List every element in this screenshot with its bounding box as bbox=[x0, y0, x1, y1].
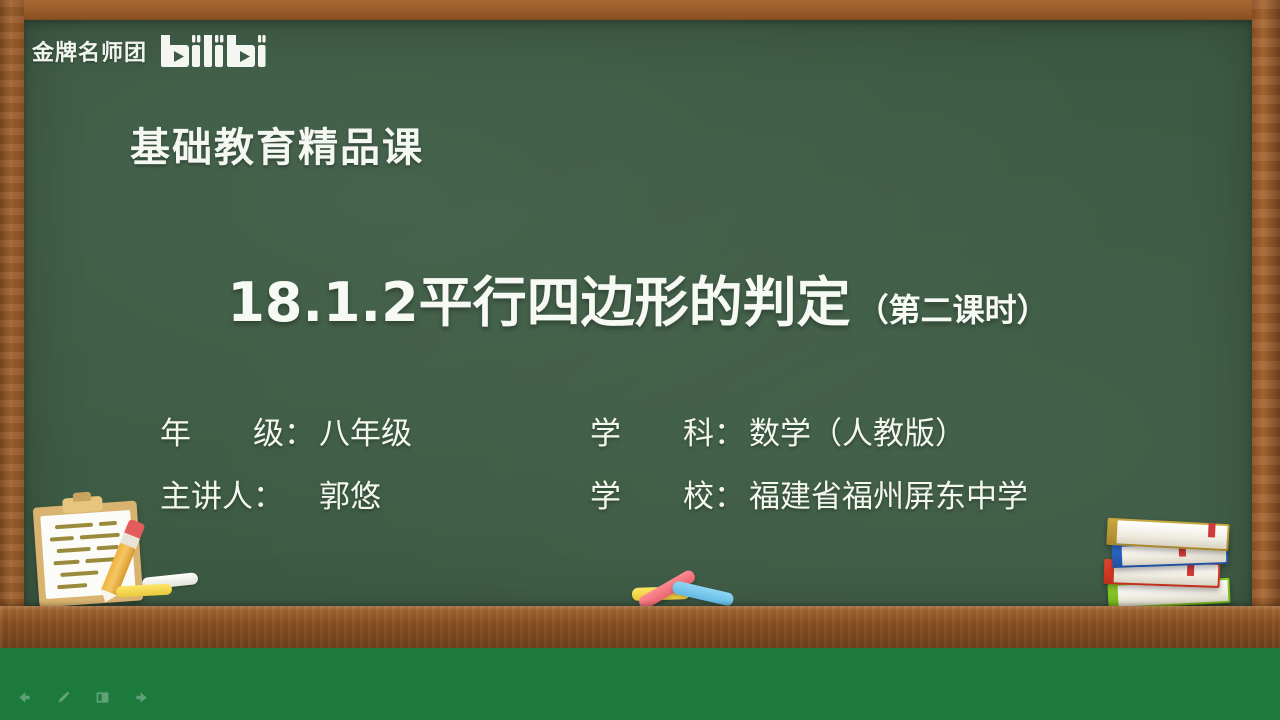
info-value-subject: 数学（人教版） bbox=[749, 408, 966, 453]
info-label-lecturer: 主讲人： bbox=[160, 471, 284, 516]
info-row-grade: 年 级： 八年级 bbox=[160, 408, 590, 453]
back-arrow-icon[interactable] bbox=[16, 689, 33, 706]
chalk-ledge bbox=[0, 606, 1280, 648]
forward-arrow-icon[interactable] bbox=[133, 689, 150, 706]
info-row-subject: 学 科： 数学（人教版） bbox=[590, 408, 1212, 453]
toolbar-icon-group bbox=[16, 689, 150, 706]
page-title-main: 18.1.2平行四边形的判定 bbox=[227, 271, 850, 334]
course-label: 基础教育精品课 bbox=[130, 115, 424, 173]
info-label-subject: 学 科： bbox=[590, 408, 745, 453]
slide-stage: 金牌名师团 bbox=[0, 0, 1280, 720]
player-toolbar[interactable] bbox=[0, 648, 1280, 720]
slide-icon[interactable] bbox=[94, 689, 111, 706]
chalkboard: 金牌名师团 bbox=[24, 20, 1252, 618]
books-stack bbox=[1104, 496, 1234, 606]
info-label-school: 学 校： bbox=[590, 471, 745, 516]
info-value-grade: 八年级 bbox=[319, 408, 412, 453]
brand-header: 金牌名师团 bbox=[32, 31, 267, 71]
page-title-suffix: （第二课时） bbox=[857, 291, 1049, 329]
clipboard-clip bbox=[62, 496, 103, 514]
chalk-yellow-left bbox=[116, 584, 172, 598]
info-value-school: 福建省福州屏东中学 bbox=[749, 471, 1028, 516]
course-info-grid: 年 级： 八年级 学 科： 数学（人教版） 主讲人： 郭悠 学 校： 福建省福州… bbox=[160, 408, 1212, 516]
info-row-lecturer: 主讲人： 郭悠 bbox=[160, 471, 590, 516]
chalk-blue bbox=[671, 580, 734, 607]
brand-chinese-text: 金牌名师团 bbox=[32, 35, 147, 67]
page-title: 18.1.2平行四边形的判定（第二课时） bbox=[24, 258, 1252, 337]
pen-icon[interactable] bbox=[55, 689, 72, 706]
info-value-lecturer: 郭悠 bbox=[288, 471, 381, 516]
info-label-grade: 年 级： bbox=[160, 408, 315, 453]
bilibili-logo: bilibili bbox=[159, 31, 267, 71]
